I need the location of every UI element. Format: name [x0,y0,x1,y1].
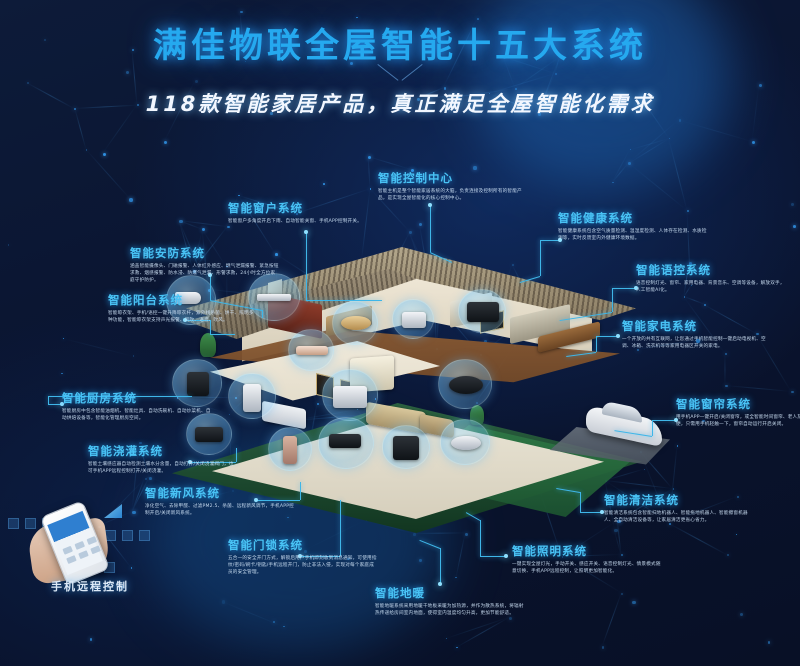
callout-desc: 一键实现全屋灯光，手动开关、感应开关、语音控制灯光、情景模式随意切换、手机APP… [512,561,662,575]
infographic-poster: 满佳物联全屋智能十五大系统 118款智能家居产品，真正满足全屋智能化需求 [0,0,800,666]
hotspot-door-lock[interactable] [268,427,312,471]
sweeping-robot-icon [451,436,481,450]
callout-irrigation[interactable]: 智能浇灌系统 智能土壤感应器自动检测土壤水分含量，自动打开/关闭浇灌阀门，也可手… [88,443,238,475]
callout-curtain[interactable]: 智能窗帘系统 用手机APP一键开启/关闭窗帘，或全智能时间窗帘、老人及小孩不方便… [676,396,800,428]
chevron-divider-icon [378,64,422,84]
callout-title: 智能地暖 [375,585,525,601]
callout-desc: 智能土壤感应器自动检测土壤水分含量，自动打开/关闭浇灌阀门，也可手机APP远程控… [88,461,238,475]
callout-title: 智能控制中心 [378,170,528,186]
hotspot-air-purifier[interactable] [228,373,276,419]
robot-vacuum-icon [449,376,483,394]
callout-desc: 智能厨房中包含智能油烟机、智能灶具、自动洗碗机、自动炒菜机、自动烘焙设备等，智能… [62,408,212,422]
callout-title: 智能浇灌系统 [88,443,238,459]
control-panel-icon [195,427,223,442]
callout-title: 智能新风系统 [145,485,295,501]
callout-desc: 智能窗户多角度开启下雨、自动智能关窗、手机APP控制开关。 [228,218,378,225]
callout-title: 智能门锁系统 [228,537,378,553]
callout-desc: 语音控制灯光、窗帘、家用电器、背景音乐、空调等设备，解放双手，人工智能AI化。 [636,280,786,294]
callout-cleaning[interactable]: 智能清洁系统 智能清洁系统包含智能扫地机器人、智能拖地机器人、智能擦窗机器人、全… [604,492,754,524]
callout-title: 智能安防系统 [130,245,280,261]
callout-title: 智能阳台系统 [108,292,258,308]
callout-title: 智能家电系统 [622,318,772,334]
hotspot-sweeping-robot[interactable] [440,419,490,465]
hotspot-fresh-air-unit[interactable] [322,369,378,421]
callout-title: 智能窗帘系统 [676,396,800,412]
callout-floor-heating[interactable]: 智能地暖 智能地暖系统采用地暖干地板采暖为加热源，并作为散热系统，将辐射热传递给… [375,585,525,617]
callout-title: 智能健康系统 [558,210,708,226]
plant-icon [200,333,216,357]
remote-label: 手机远程控制 [30,578,150,594]
callout-desc: 净化空气、去除甲醛、过滤PM2.5、杀菌、远程新风调节，手机APP控制开启/关闭… [145,503,295,517]
air-purifier-icon [243,384,261,412]
callout-control-center[interactable]: 智能控制中心 智能主机是整个智能家居系统的大脑，负责连接及控制所有的智能产品，是… [378,170,528,202]
hotspot-ceiling-lamp[interactable] [332,301,378,345]
callout-fresh-air[interactable]: 智能新风系统 净化空气、去除甲醛、过滤PM2.5、杀菌、远程新风调节，手机APP… [145,485,295,517]
callout-desc: 智能地暖系统采用地暖干地板采暖为加热源，并作为散热系统，将辐射热传递给房间室内地… [375,603,525,617]
mobile-remote-control[interactable]: 手机远程控制 [30,500,140,590]
window-opener-icon [296,346,328,355]
callout-desc: 智能健康系统包含空气质量检测、温湿度检测、人体存在检测、水质检测等，实时反馈室内… [558,228,708,242]
callout-kitchen[interactable]: 智能厨房系统 智能厨房中包含智能油烟机、智能灶具、自动洗碗机、自动炒菜机、自动烘… [62,390,212,422]
hotspot-wall-unit[interactable] [392,299,434,339]
wall-switch-icon [393,436,419,460]
hotspot-floor-heating[interactable] [318,417,374,469]
floor-heating-icon [329,434,361,448]
callout-security[interactable]: 智能安防系统 涵盖智能摄像头、门磁报警、人体红外感应、燃气泄漏报警、紧急按钮求救… [130,245,280,284]
callout-desc: 智能清洁系统包含智能扫地机器人、智能拖地机器人、智能擦窗机器人、全自动清洁设备等… [604,510,754,524]
hotspot-light-switch[interactable] [382,425,430,469]
callout-balcony[interactable]: 智能阳台系统 智能晾衣架、手机/语控一键升降晾衣杆，紫外线杀菌、烘干、照明多种功… [108,292,258,324]
callout-voice[interactable]: 智能语控系统 语音控制灯光、窗帘、家用电器、背景音乐、空调等设备，解放双手，人工… [636,262,786,294]
callout-title: 智能厨房系统 [62,390,212,406]
wall-panel-icon [402,312,426,328]
callout-desc: 用手机APP一键开启/关闭窗帘，或全智能时间窗帘、老人及小孩不方便，只需用手机轻… [676,414,800,428]
smart-door-lock-icon [283,436,297,464]
callout-title: 智能语控系统 [636,262,786,278]
ceiling-light-icon [341,316,371,330]
callout-title: 智能清洁系统 [604,492,754,508]
callout-lighting[interactable]: 智能照明系统 一键实现全屋灯光，手动开关、感应开关、语音控制灯光、情景模式随意切… [512,543,662,575]
page-title: 满佳物联全屋智能十五大系统 [0,18,800,67]
callout-desc: 一个开放的共有互联网，让您通过手机智能控制一键启动电视机、空调、冰箱、洗衣机等等… [622,336,772,350]
hotspot-tv-panel[interactable] [458,289,506,333]
callout-desc: 涵盖智能摄像头、门磁报警、人体红外感应、燃气泄漏报警、紧急按钮求救、烟感报警、防… [130,263,280,284]
callout-title: 智能窗户系统 [228,200,378,216]
callout-window[interactable]: 智能窗户系统 智能窗户多角度开启下雨、自动智能关窗、手机APP控制开关。 [228,200,378,225]
hotspot-robot-vacuum[interactable] [438,359,492,409]
callout-desc: 智能晾衣架、手机/语控一键升降晾衣杆，紫外线杀菌、烘干、照明多种功能，智能晾衣架… [108,310,258,324]
callout-health[interactable]: 智能健康系统 智能健康系统包含空气质量检测、温湿度检测、人体存在检测、水质检测等… [558,210,708,242]
wifi-signal-icon [104,504,122,518]
tv-panel-icon [467,302,499,322]
hotspot-window-opener[interactable] [288,329,334,371]
callout-door-lock[interactable]: 智能门锁系统 五合一的安全开门方式，解锁后用户手机即刻收到消息通知，可使用指纹/… [228,537,378,576]
page-subtitle: 118款智能家居产品，真正满足全屋智能化需求 [0,88,800,118]
callout-appliance[interactable]: 智能家电系统 一个开放的共有互联网，让您通过手机智能控制一键启动电视机、空调、冰… [622,318,772,350]
drying-rack-icon [257,294,291,301]
callout-desc: 智能主机是整个智能家居系统的大脑，负责连接及控制所有的智能产品，是实现全屋智能化… [378,188,528,202]
callout-title: 智能照明系统 [512,543,662,559]
fresh-air-unit-icon [333,386,367,408]
callout-desc: 五合一的安全开门方式，解锁后用户手机即刻收到消息通知，可使用指纹/密码/刷卡/钥… [228,555,378,576]
